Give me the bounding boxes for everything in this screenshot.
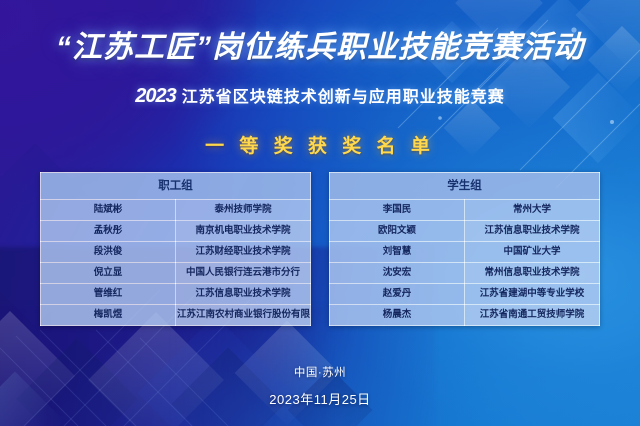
footer: 中国·苏州 2023年11月25日 xyxy=(0,364,640,408)
winner-name: 管维红 xyxy=(41,284,176,305)
winner-organization: 江苏信息职业技术学院 xyxy=(176,284,311,305)
table-row: 刘智慧中国矿业大学 xyxy=(330,242,600,263)
winner-organization: 泰州技师学院 xyxy=(176,200,311,221)
table-row: 杨晨杰江苏省南通工贸技师学院 xyxy=(330,305,600,326)
subtitle-text: 江苏省区块链技术创新与应用职业技能竞赛 xyxy=(182,83,505,107)
award-table-student-body: 学生组李国民常州大学欧阳文颖江苏信息职业技术学院刘智慧中国矿业大学沈安宏常州信息… xyxy=(330,173,600,326)
winner-organization: 江苏省建湖中等专业学校 xyxy=(465,284,600,305)
award-poster: “江苏工匠”岗位练兵职业技能竞赛活动 2023 江苏省区块链技术创新与应用职业技… xyxy=(0,0,640,426)
winner-organization: 常州信息职业技术学院 xyxy=(465,263,600,284)
winner-name: 欧阳文颖 xyxy=(330,221,465,242)
table-row: 李国民常州大学 xyxy=(330,200,600,221)
award-table-student-wrap: 学生组李国民常州大学欧阳文颖江苏信息职业技术学院刘智慧中国矿业大学沈安宏常州信息… xyxy=(329,172,600,326)
winner-organization: 中国人民银行连云港市分行 xyxy=(176,263,311,284)
winner-name: 杨晨杰 xyxy=(330,305,465,326)
winner-organization: 江苏财经职业技术学院 xyxy=(176,242,311,263)
winner-organization: 江苏信息职业技术学院 xyxy=(465,221,600,242)
award-list-heading: 一 等 奖 获 奖 名 单 xyxy=(0,131,640,158)
footer-city: 中国·苏州 xyxy=(0,364,640,380)
winner-name: 孟秋彤 xyxy=(41,221,176,242)
table-row: 管维红江苏信息职业技术学院 xyxy=(41,284,311,305)
winner-organization: 江苏江南农村商业银行股份有限公司 xyxy=(176,305,311,326)
table-header-row: 学生组 xyxy=(330,173,600,200)
group-title: 学生组 xyxy=(330,173,600,200)
group-title: 职工组 xyxy=(41,173,311,200)
winner-name: 李国民 xyxy=(330,200,465,221)
table-row: 陆斌彬泰州技师学院 xyxy=(41,200,311,221)
table-row: 段洪俊江苏财经职业技术学院 xyxy=(41,242,311,263)
award-table-student: 学生组李国民常州大学欧阳文颖江苏信息职业技术学院刘智慧中国矿业大学沈安宏常州信息… xyxy=(329,172,600,326)
table-row: 梅凯煜江苏江南农村商业银行股份有限公司 xyxy=(41,305,311,326)
table-row: 孟秋彤南京机电职业技术学院 xyxy=(41,221,311,242)
subtitle-year: 2023 xyxy=(135,85,176,108)
winner-name: 倪立显 xyxy=(41,263,176,284)
winner-name: 赵爱丹 xyxy=(330,284,465,305)
table-row: 欧阳文颖江苏信息职业技术学院 xyxy=(330,221,600,242)
table-row: 沈安宏常州信息职业技术学院 xyxy=(330,263,600,284)
award-table-staff-wrap: 职工组陆斌彬泰州技师学院孟秋彤南京机电职业技术学院段洪俊江苏财经职业技术学院倪立… xyxy=(40,172,311,326)
winner-name: 沈安宏 xyxy=(330,263,465,284)
table-row: 倪立显中国人民银行连云港市分行 xyxy=(41,263,311,284)
winner-organization: 南京机电职业技术学院 xyxy=(176,221,311,242)
subtitle-row: 2023 江苏省区块链技术创新与应用职业技能竞赛 xyxy=(0,83,640,108)
winner-organization: 江苏省南通工贸技师学院 xyxy=(465,305,600,326)
table-header-row: 职工组 xyxy=(41,173,311,200)
winner-name: 段洪俊 xyxy=(41,242,176,263)
table-row: 赵爱丹江苏省建湖中等专业学校 xyxy=(330,284,600,305)
award-tables: 职工组陆斌彬泰州技师学院孟秋彤南京机电职业技术学院段洪俊江苏财经职业技术学院倪立… xyxy=(40,172,600,326)
winner-name: 陆斌彬 xyxy=(41,200,176,221)
page-title: “江苏工匠”岗位练兵职业技能竞赛活动 xyxy=(0,22,640,66)
winner-organization: 中国矿业大学 xyxy=(465,242,600,263)
award-table-staff: 职工组陆斌彬泰州技师学院孟秋彤南京机电职业技术学院段洪俊江苏财经职业技术学院倪立… xyxy=(40,172,311,326)
winner-name: 刘智慧 xyxy=(330,242,465,263)
award-table-staff-body: 职工组陆斌彬泰州技师学院孟秋彤南京机电职业技术学院段洪俊江苏财经职业技术学院倪立… xyxy=(41,173,311,326)
winner-name: 梅凯煜 xyxy=(41,305,176,326)
footer-date: 2023年11月25日 xyxy=(0,389,640,408)
winner-organization: 常州大学 xyxy=(465,200,600,221)
